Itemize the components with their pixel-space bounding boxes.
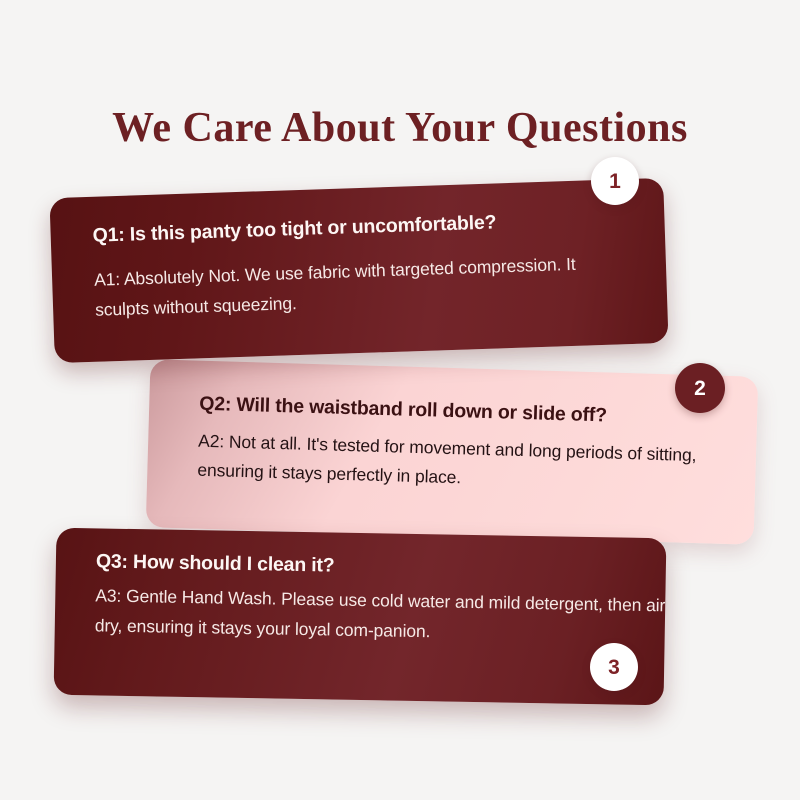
faq-page: We Care About Your Questions Q2: Will th… [0, 0, 800, 800]
faq-question-2: Q2: Will the waistband roll down or slid… [199, 393, 607, 428]
faq-badge-1: 1 [591, 157, 639, 205]
page-title: We Care About Your Questions [0, 102, 800, 154]
faq-badge-3: 3 [590, 643, 638, 691]
faq-answer-2: A2: Not at all. It's tested for movement… [197, 427, 738, 501]
faq-badge-2: 2 [675, 363, 725, 413]
faq-answer-1: A1: Absolutely Not. We use fabric with t… [94, 247, 636, 325]
faq-card-1[interactable]: Q1: Is this panty too tight or uncomfort… [49, 178, 668, 363]
faq-answer-3: A3: Gentle Hand Wash. Please use cold wa… [95, 580, 666, 650]
faq-question-3: Q3: How should I clean it? [96, 550, 335, 577]
faq-card-2[interactable]: Q2: Will the waistband roll down or slid… [146, 359, 759, 544]
faq-question-1: Q1: Is this panty too tight or uncomfort… [92, 211, 496, 247]
faq-card-3[interactable]: Q3: How should I clean it? A3: Gentle Ha… [54, 528, 667, 706]
